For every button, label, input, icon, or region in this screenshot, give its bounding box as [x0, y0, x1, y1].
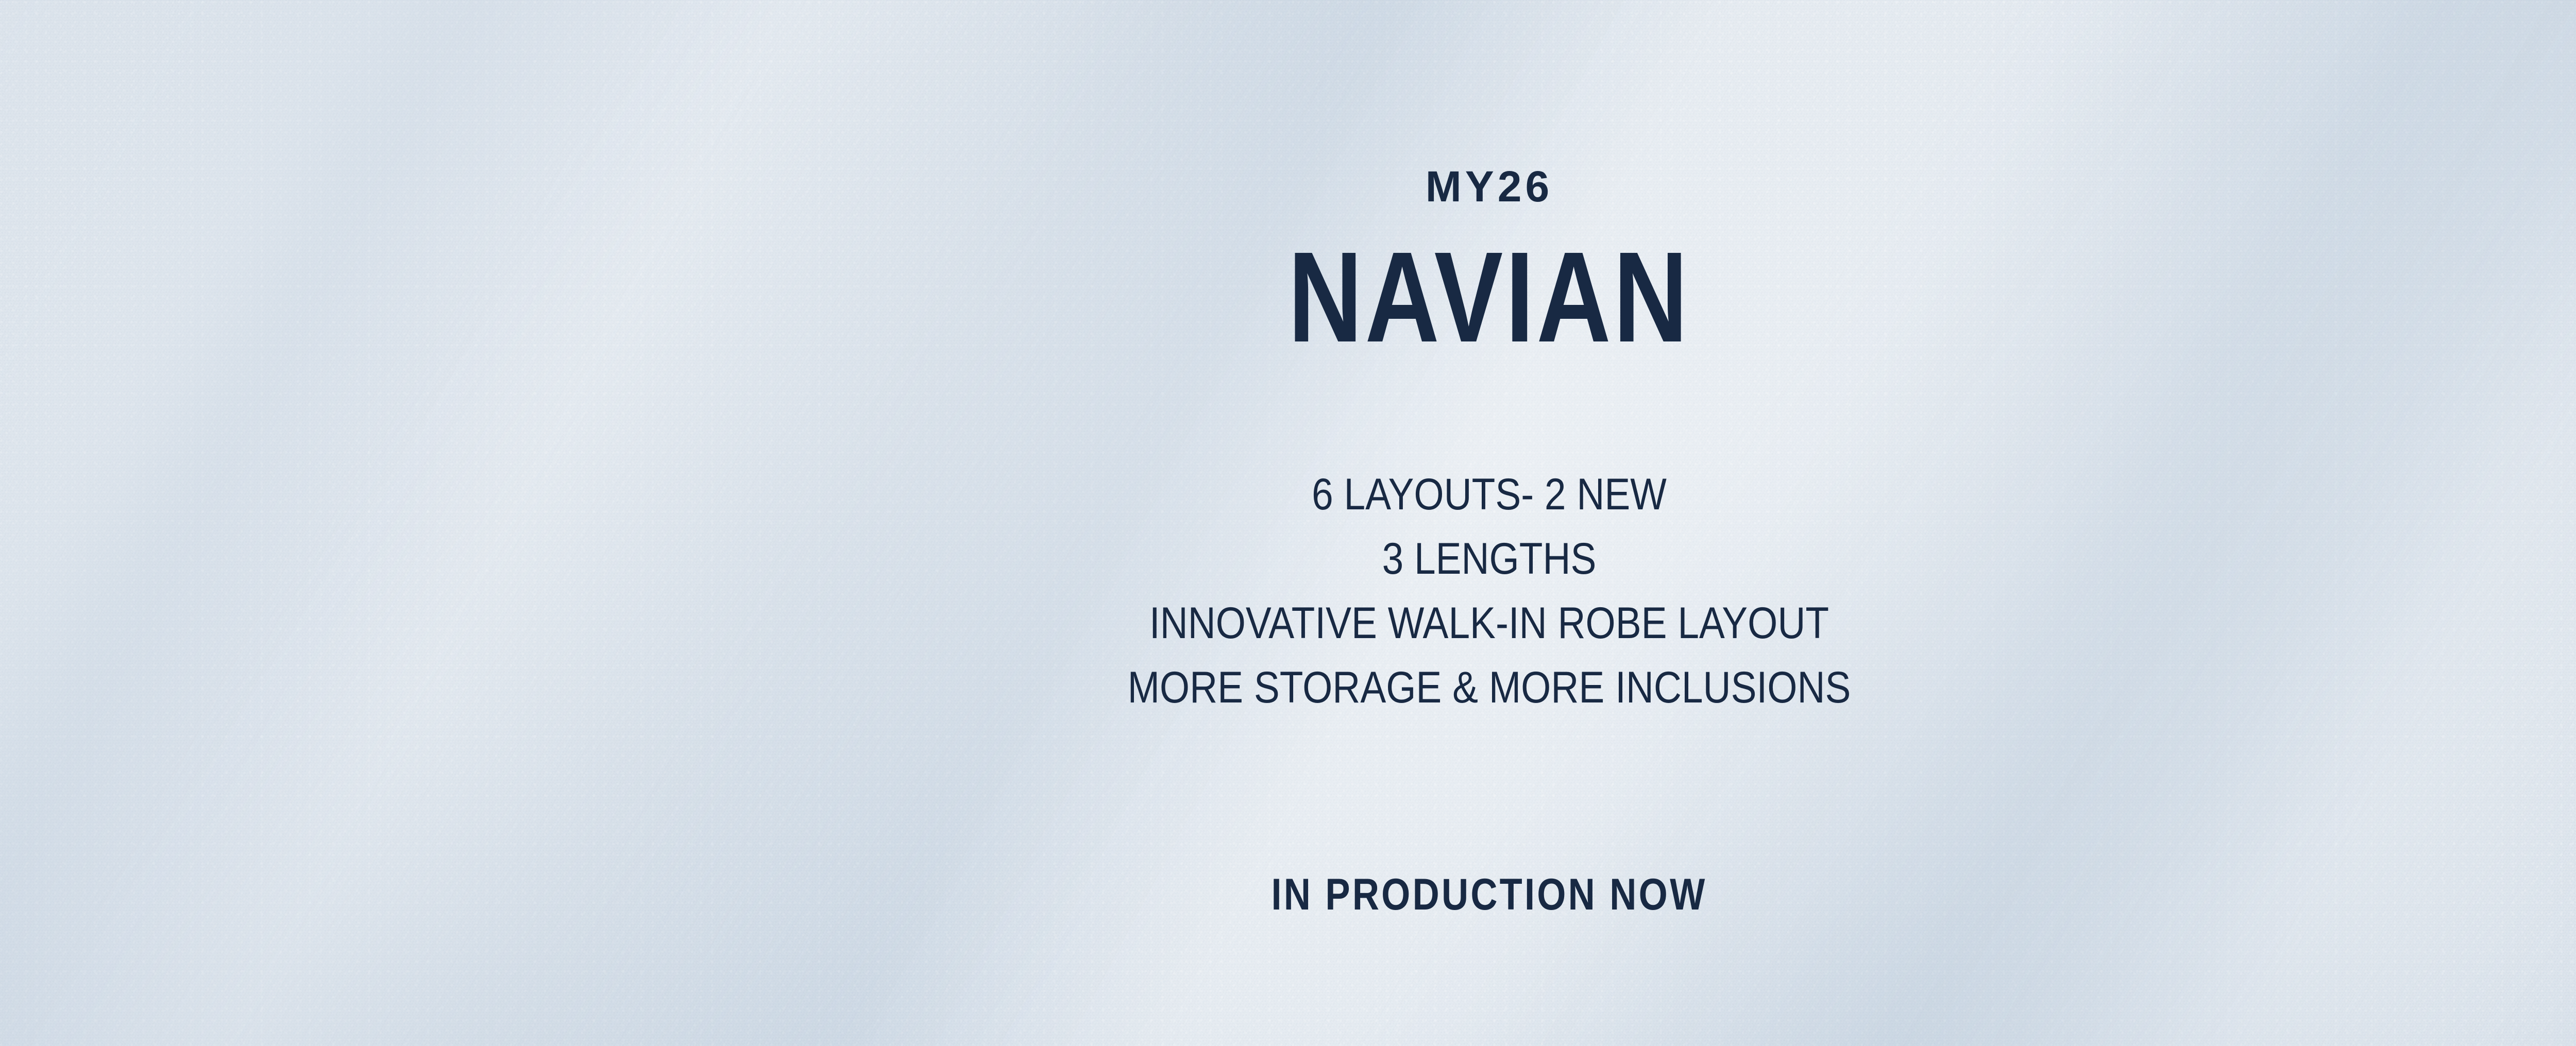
feature-line: MORE STORAGE & MORE INCLUSIONS: [194, 656, 2576, 720]
feature-line: 6 LAYOUTS- 2 NEW: [194, 462, 2576, 527]
feature-list: 6 LAYOUTS- 2 NEW 3 LENGTHS INNOVATIVE WA…: [194, 462, 2576, 720]
product-wordmark: NAVIAN: [298, 233, 2576, 362]
promo-banner: MY26 NAVIAN 6 LAYOUTS- 2 NEW 3 LENGTHS I…: [0, 0, 2576, 1046]
feature-line: 3 LENGTHS: [194, 527, 2576, 591]
feature-line: INNOVATIVE WALK-IN ROBE LAYOUT: [194, 591, 2576, 656]
banner-content: MY26 NAVIAN 6 LAYOUTS- 2 NEW 3 LENGTHS I…: [0, 0, 2576, 1046]
model-year-eyebrow: MY26: [0, 165, 2576, 208]
production-status-text: IN PRODUCTION NOW: [238, 872, 2576, 917]
